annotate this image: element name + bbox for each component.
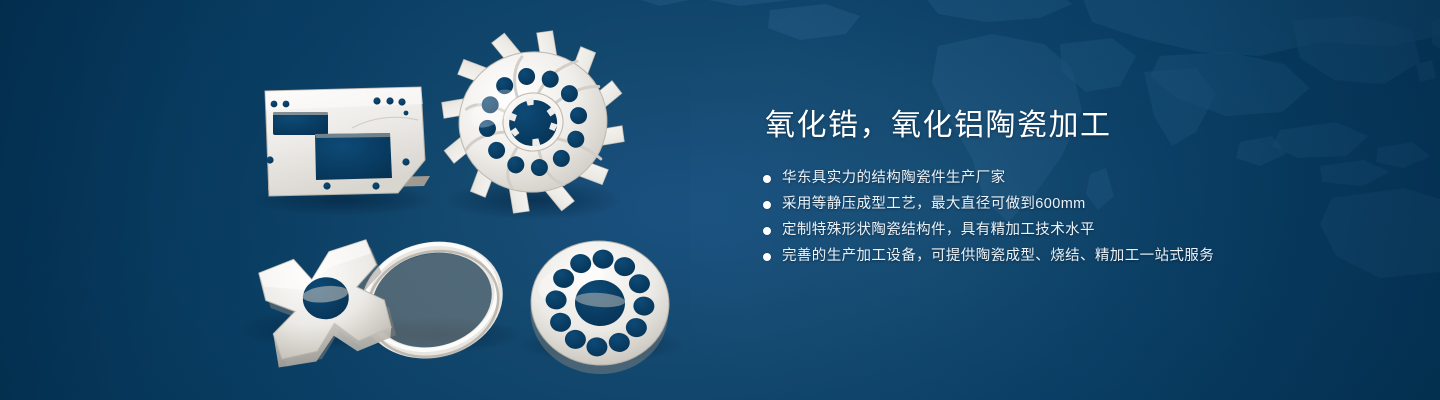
ceramic-cross-vane [257,238,399,369]
banner-copy: 氧化锆，氧化铝陶瓷加工 华东具实力的结构陶瓷件生产厂家 采用等静压成型工艺，最大… [763,106,1383,266]
list-item: 采用等静压成型工艺，最大直径可做到600mm [763,195,1383,214]
ceramic-machined-plate [265,87,430,196]
page-title: 氧化锆，氧化铝陶瓷加工 [765,106,1383,146]
hero-banner: 氧化锆，氧化铝陶瓷加工 华东具实力的结构陶瓷件生产厂家 采用等静压成型工艺，最大… [0,0,1440,400]
feature-text: 华东具实力的结构陶瓷件生产厂家 [782,169,1006,188]
feature-list: 华东具实力的结构陶瓷件生产厂家 采用等静压成型工艺，最大直径可做到600mm 定… [763,169,1383,266]
bullet-dot-icon [763,201,771,209]
list-item: 华东具实力的结构陶瓷件生产厂家 [763,169,1383,188]
feature-text: 定制特殊形状陶瓷结构件，具有精加工技术水平 [782,221,1095,240]
list-item: 完善的生产加工设备，可提供陶瓷成型、烧结、精加工一站式服务 [763,247,1383,266]
bullet-dot-icon [763,175,771,183]
bullet-dot-icon [763,227,771,235]
feature-text: 完善的生产加工设备，可提供陶瓷成型、烧结、精加工一站式服务 [782,247,1214,266]
list-item: 定制特殊形状陶瓷结构件，具有精加工技术水平 [763,221,1383,240]
bullet-dot-icon [763,253,771,261]
feature-text: 采用等静压成型工艺，最大直径可做到600mm [782,195,1086,214]
ceramic-products-image [0,0,760,400]
